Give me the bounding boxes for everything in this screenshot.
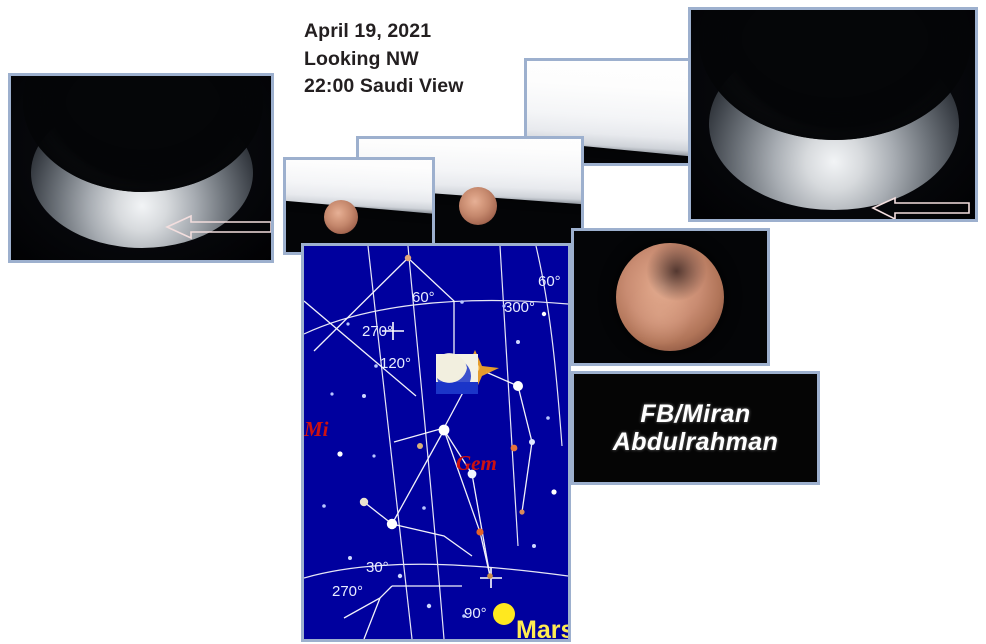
title-line-date: April 19, 2021 <box>304 18 534 46</box>
credit-line-1: FB/Miran <box>613 400 779 428</box>
mars-closeup-panel <box>571 228 770 366</box>
moon-photo-left <box>11 76 271 260</box>
credit-text: FB/Miran Abdulrahman <box>613 400 779 456</box>
cloud-thumb-1-photo <box>286 160 432 252</box>
title-line-direction: Looking NW <box>304 46 534 74</box>
title-line-time: 22:00 Saudi View <box>304 73 534 101</box>
grid-label-3: 300° <box>504 299 535 316</box>
grid-label-1: 270° <box>362 323 393 340</box>
annotation-arrow-right-panel <box>871 194 971 219</box>
star-chart-panel: 60° 270° 120° 300° 60° 30° 270° 90° Mi G… <box>301 243 571 642</box>
title-block: April 19, 2021 Looking NW 22:00 Saudi Vi… <box>304 18 534 101</box>
moon-photo-right <box>691 10 975 219</box>
annotation-arrow-left-panel <box>165 212 271 242</box>
grid-label-5: 30° <box>366 559 389 576</box>
moon-photo-left-panel <box>8 73 274 263</box>
mars-disk <box>616 243 724 351</box>
moon-photo-right-panel <box>688 7 978 222</box>
credit-plate-panel: FB/Miran Abdulrahman <box>571 371 820 485</box>
cloud-thumb-1-panel <box>283 157 435 255</box>
moon-symbol-icon <box>436 353 478 394</box>
mars-disk-thumbnail <box>324 200 358 234</box>
mars-yellow-disk <box>493 603 515 625</box>
constellation-label-gemini: Gem <box>456 451 497 475</box>
credit-line-2: Abdulrahman <box>613 428 779 456</box>
grid-label-2: 120° <box>380 355 411 372</box>
grid-label-0: 60° <box>412 289 435 306</box>
planet-label-mars: Mars <box>516 616 568 639</box>
star-chart-canvas: 60° 270° 120° 300° 60° 30° 270° 90° Mi G… <box>304 246 568 639</box>
mars-closeup-photo <box>574 231 767 363</box>
constellation-label-monoceros: Mi <box>304 417 329 441</box>
grid-label-4: 60° <box>538 273 561 290</box>
mars-disk-thumbnail <box>459 187 497 225</box>
grid-label-7: 90° <box>464 605 487 622</box>
grid-label-6: 270° <box>332 583 363 600</box>
